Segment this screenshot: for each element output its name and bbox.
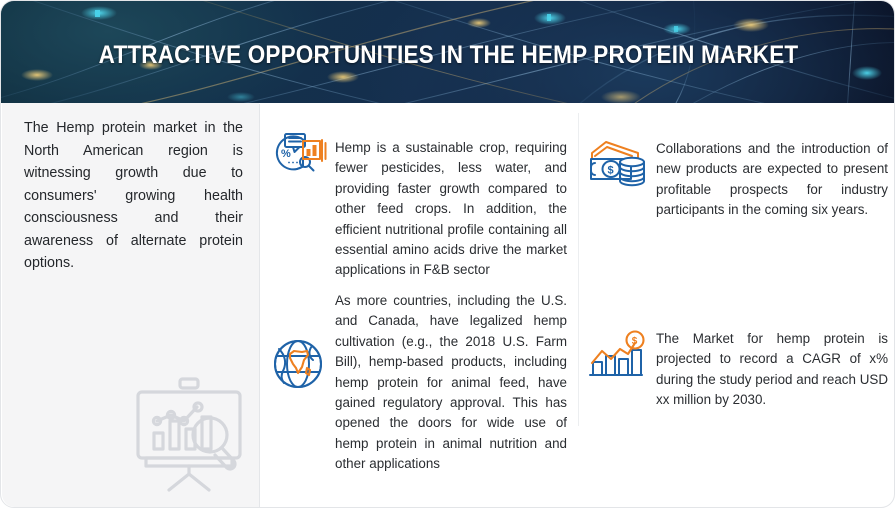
growth-chart-icon: $: [586, 329, 648, 391]
svg-text:$: $: [608, 165, 614, 177]
insight-text-collaborations: Collaborations and the introduction of n…: [656, 139, 888, 221]
insight-block-cagr: $ The Market for hemp protein is project…: [586, 329, 888, 411]
presentation-analytics-icon: [128, 373, 250, 495]
globe-icon: [267, 333, 329, 395]
region-summary-text: The Hemp protein market in the North Ame…: [24, 117, 243, 275]
header-banner: ATTRACTIVE OPPORTUNITIES IN THE HEMP PRO…: [1, 1, 895, 103]
left-summary-panel: The Hemp protein market in the North Ame…: [2, 103, 259, 507]
insight-text-cagr: The Market for hemp protein is projected…: [656, 329, 888, 411]
infographic-card: ATTRACTIVE OPPORTUNITIES IN THE HEMP PRO…: [0, 0, 895, 508]
column-divider-left: [259, 104, 260, 508]
insight-block-crop: % Hemp is a sustainable c: [267, 129, 567, 281]
svg-text:%: %: [281, 148, 291, 160]
chart-analysis-icon: %: [267, 129, 329, 191]
insight-block-collaborations: $ Collaborations and the introduction of…: [586, 135, 888, 221]
column-divider-right: [578, 113, 579, 426]
money-icon: $: [586, 135, 648, 197]
insight-text-crop: Hemp is a sustainable crop, requiring fe…: [335, 138, 567, 281]
insight-text-legalization: As more countries, including the U.S. an…: [335, 291, 567, 474]
insight-block-legalization: As more countries, including the U.S. an…: [267, 291, 567, 474]
svg-text:$: $: [632, 336, 638, 347]
page-title: ATTRACTIVE OPPORTUNITIES IN THE HEMP PRO…: [46, 41, 852, 70]
